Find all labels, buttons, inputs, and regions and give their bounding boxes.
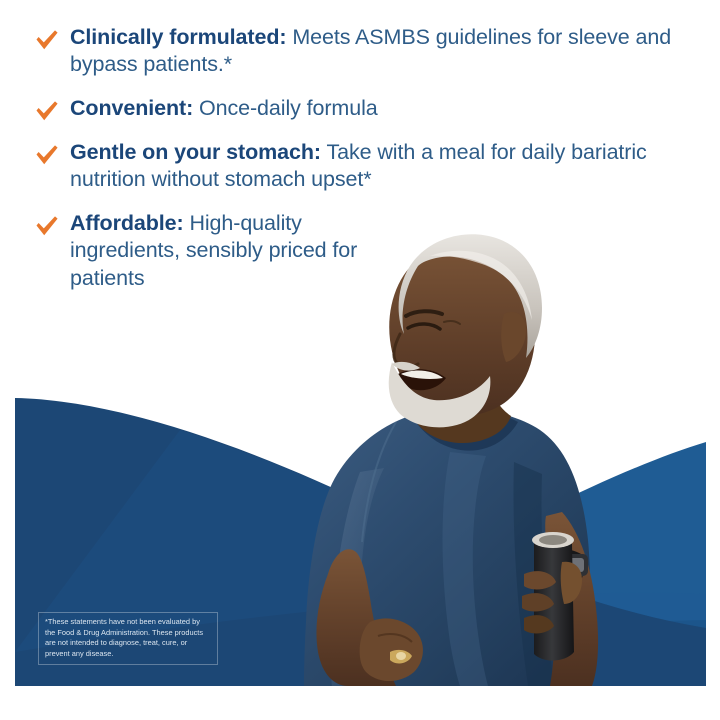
benefit-text: Affordable: High-quality ingredients, se… [70, 210, 370, 291]
benefit-item-convenient: Convenient: Once-daily formula [34, 95, 674, 122]
benefits-list: Clinically formulated: Meets ASMBS guide… [34, 24, 674, 292]
ring-stone [396, 652, 406, 660]
benefit-term: Clinically formulated: [70, 25, 286, 49]
benefit-item-gentle-on-your-stomach: Gentle on your stomach: Take with a meal… [34, 139, 674, 193]
benefit-text: Gentle on your stomach: Take with a meal… [70, 139, 674, 193]
tumbler-lid-inner [539, 535, 567, 545]
benefit-text: Convenient: Once-daily formula [70, 95, 674, 122]
check-icon [34, 100, 60, 122]
benefit-item-clinically-formulated: Clinically formulated: Meets ASMBS guide… [34, 24, 674, 78]
disclaimer-text: *These statements have not been evaluate… [45, 617, 211, 659]
benefit-description: Once-daily formula [199, 96, 378, 120]
check-icon [34, 215, 60, 237]
benefit-text: Clinically formulated: Meets ASMBS guide… [70, 24, 674, 78]
benefit-term: Gentle on your stomach: [70, 140, 321, 164]
disclaimer-box: *These statements have not been evaluate… [38, 612, 218, 665]
check-icon [34, 29, 60, 51]
marketing-banner: Clinically formulated: Meets ASMBS guide… [0, 0, 720, 720]
benefit-item-affordable: Affordable: High-quality ingredients, se… [34, 210, 674, 291]
benefit-term: Affordable: [70, 211, 184, 235]
check-icon [34, 144, 60, 166]
benefit-term: Convenient: [70, 96, 193, 120]
